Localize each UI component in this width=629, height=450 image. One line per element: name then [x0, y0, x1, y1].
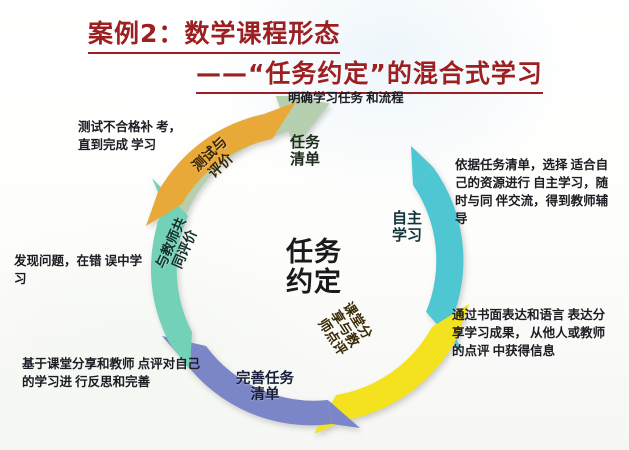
- note-top: 明确学习任务 和流程: [288, 89, 418, 107]
- note-top-left: 测试不合格补 考，直到完成 学习: [78, 118, 190, 154]
- note-left: 发现问题，在错 误中学习: [14, 252, 144, 288]
- page-title-line1: 案例2：数学课程形态: [88, 14, 340, 54]
- page-title-line2: ——“任务约定”的混合式学习: [196, 54, 543, 94]
- cycle-center-label: 任务 约定: [254, 238, 374, 298]
- slide-canvas: 案例2：数学课程形态 ——“任务约定”的混合式学习: [0, 0, 629, 450]
- note-bottom-left: 基于课堂分享和教师 点评对自己的学习进 行反思和完善: [22, 355, 202, 391]
- note-bottom-right: 通过书面表达和语言 表达分享学习成果， 从他人或教师的点评 中获得信息: [452, 306, 617, 360]
- note-right: 依据任务清单，选择 适合自己的资源进行 自主学习，随时与同 伴交流，得到教师辅 …: [455, 156, 615, 229]
